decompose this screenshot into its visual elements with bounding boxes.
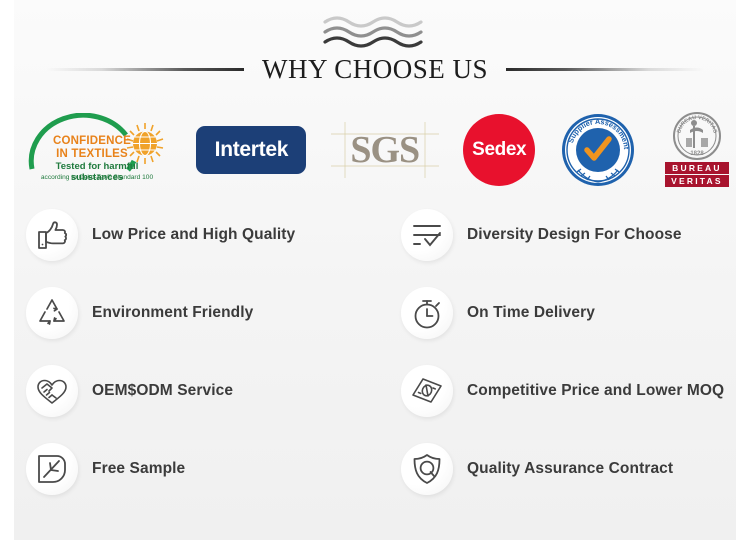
feature-item-diversity-design: Diversity Design For Choose <box>375 196 750 274</box>
cert-supplier-assessment: Supplier Assessment <box>560 110 636 190</box>
feature-label: Low Price and High Quality <box>92 226 295 244</box>
banknote-icon <box>401 365 453 417</box>
leaf-icon <box>26 443 78 495</box>
feature-label: Quality Assurance Contract <box>467 460 673 478</box>
bv-band-veritas: VERITAS <box>665 175 729 187</box>
thumbs-up-icon <box>26 209 78 261</box>
cert-intertek: Intertek <box>196 110 306 190</box>
intertek-label: Intertek <box>215 138 288 162</box>
feature-label: Environment Friendly <box>92 304 253 322</box>
feature-item-competitive-price: Competitive Price and Lower MOQ <box>375 352 750 430</box>
checklist-icon <box>401 209 453 261</box>
feature-label: Diversity Design For Choose <box>467 226 682 244</box>
cert-sgs: SGS <box>331 110 439 190</box>
handshake-heart-icon <box>26 365 78 417</box>
why-choose-us-page: WHY CHOOSE US <box>0 0 750 552</box>
page-header: WHY CHOOSE US <box>0 0 750 98</box>
feature-item-environment-friendly: Environment Friendly <box>0 274 375 352</box>
bv-year: 1828 <box>690 151 704 157</box>
feature-grid: Low Price and High Quality Diversity Des… <box>0 196 750 508</box>
cert-oeko-tex: CONFIDENCE IN TEXTILES Tested for harmfu… <box>22 110 172 190</box>
feature-item-oem-odm-service: OEM$ODM Service <box>0 352 375 430</box>
wave-ornament-icon <box>323 14 427 48</box>
divider-left <box>46 68 244 71</box>
bv-band-bureau: BUREAU <box>665 162 729 174</box>
cert-bureau-veritas: BUREAU VERITAS 1828 BUREAU VERITAS <box>660 110 734 190</box>
shield-q-icon <box>401 443 453 495</box>
title-row: WHY CHOOSE US <box>0 52 750 86</box>
cert-sedex: Sedex <box>463 110 535 190</box>
feature-item-free-sample: Free Sample <box>0 430 375 508</box>
stopwatch-icon <box>401 287 453 339</box>
oeko-tex-line1: CONFIDENCE IN TEXTILES <box>42 135 142 161</box>
oeko-tex-line3: according to Oeko-Tex® Standard 100 <box>26 173 168 182</box>
feature-item-low-price-high-quality: Low Price and High Quality <box>0 196 375 274</box>
feature-label: Competitive Price and Lower MOQ <box>467 382 724 400</box>
feature-label: Free Sample <box>92 460 185 478</box>
feature-item-quality-assurance: Quality Assurance Contract <box>375 430 750 508</box>
feature-label: OEM$ODM Service <box>92 382 233 400</box>
certification-logo-row: CONFIDENCE IN TEXTILES Tested for harmfu… <box>22 108 734 192</box>
recycle-icon <box>26 287 78 339</box>
sedex-label: Sedex <box>472 139 526 161</box>
page-title: WHY CHOOSE US <box>262 54 488 85</box>
feature-item-on-time-delivery: On Time Delivery <box>375 274 750 352</box>
feature-label: On Time Delivery <box>467 304 595 322</box>
divider-right <box>506 68 704 71</box>
